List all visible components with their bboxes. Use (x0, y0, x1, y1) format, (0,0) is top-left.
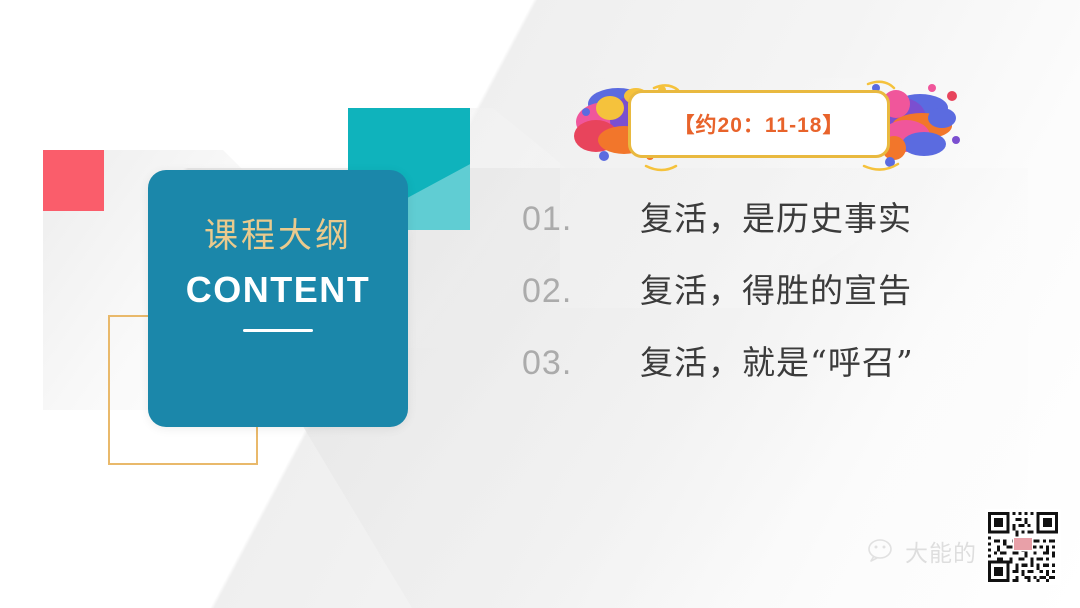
content-card-title-cn: 课程大纲 (204, 216, 352, 257)
outline-item-label: 复活，得胜的宣告 (640, 264, 912, 312)
scripture-banner-box: 【约20：11-18】 (628, 90, 890, 158)
content-card-title-en: CONTENT (186, 269, 371, 311)
content-card: 课程大纲 CONTENT (148, 170, 408, 427)
qr-center-logo (1013, 537, 1033, 551)
outline-item-index: 03. (522, 344, 640, 383)
list-item[interactable]: 03. 复活，就是“呼召” (522, 336, 992, 408)
red-square-decoration (43, 150, 104, 211)
list-item[interactable]: 01. 复活，是历史事实 (522, 192, 992, 264)
outline-list: 01. 复活，是历史事实 02. 复活，得胜的宣告 03. 复活，就是“呼召” (522, 192, 992, 408)
outline-item-index: 01. (522, 200, 640, 239)
scripture-banner: 【约20：11-18】 (566, 74, 972, 176)
outline-item-index: 02. (522, 272, 640, 311)
watermark: 大能的 (868, 534, 977, 568)
wechat-icon (868, 539, 898, 563)
outline-item-label: 复活，就是“呼召” (640, 336, 914, 384)
watermark-text: 大能的 (905, 534, 977, 568)
list-item[interactable]: 02. 复活，得胜的宣告 (522, 264, 992, 336)
outline-item-label: 复活，是历史事实 (640, 192, 912, 240)
scripture-reference-text: 【约20：11-18】 (674, 109, 845, 139)
content-card-divider (243, 329, 313, 332)
slide-canvas: 课程大纲 CONTENT (0, 0, 1080, 608)
